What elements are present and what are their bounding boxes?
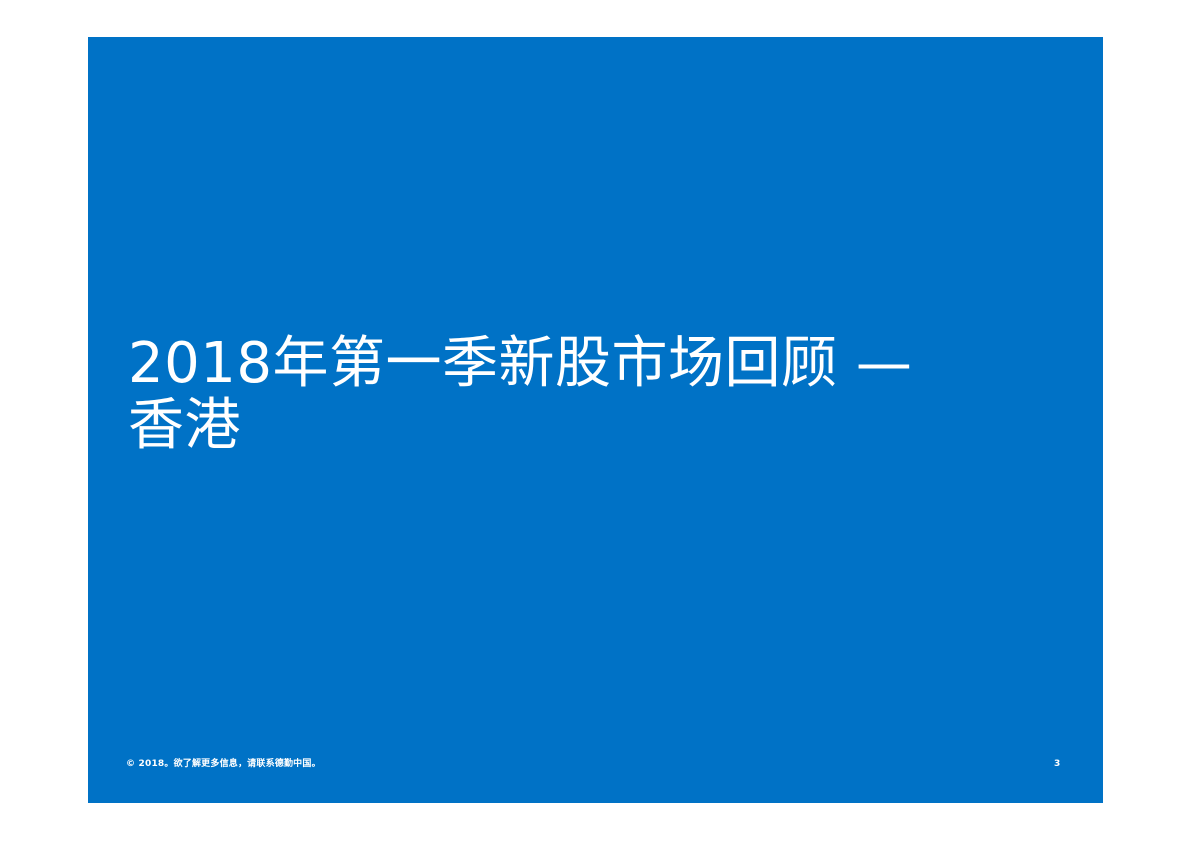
slide-background-panel: 2018年第一季新股市场回顾 —香港 © 2018。欲了解更多信息，请联系德勤中… (88, 37, 1103, 803)
page-title: 2018年第一季新股市场回顾 —香港 (128, 333, 1008, 457)
slide-title-block: 2018年第一季新股市场回顾 —香港 (128, 333, 1008, 457)
page-title-line-1: 2018年第一季新股市场回顾 — (128, 333, 1008, 395)
page-title-line-2: 香港 (128, 395, 1008, 457)
footer-copyright-text: © 2018。欲了解更多信息，请联系德勤中国。 (126, 758, 321, 770)
slide-footer: © 2018。欲了解更多信息，请联系德勤中国。 3 (88, 755, 1103, 803)
footer-page-number: 3 (1054, 758, 1078, 770)
slide-canvas: 2018年第一季新股市场回顾 —香港 © 2018。欲了解更多信息，请联系德勤中… (0, 0, 1190, 841)
